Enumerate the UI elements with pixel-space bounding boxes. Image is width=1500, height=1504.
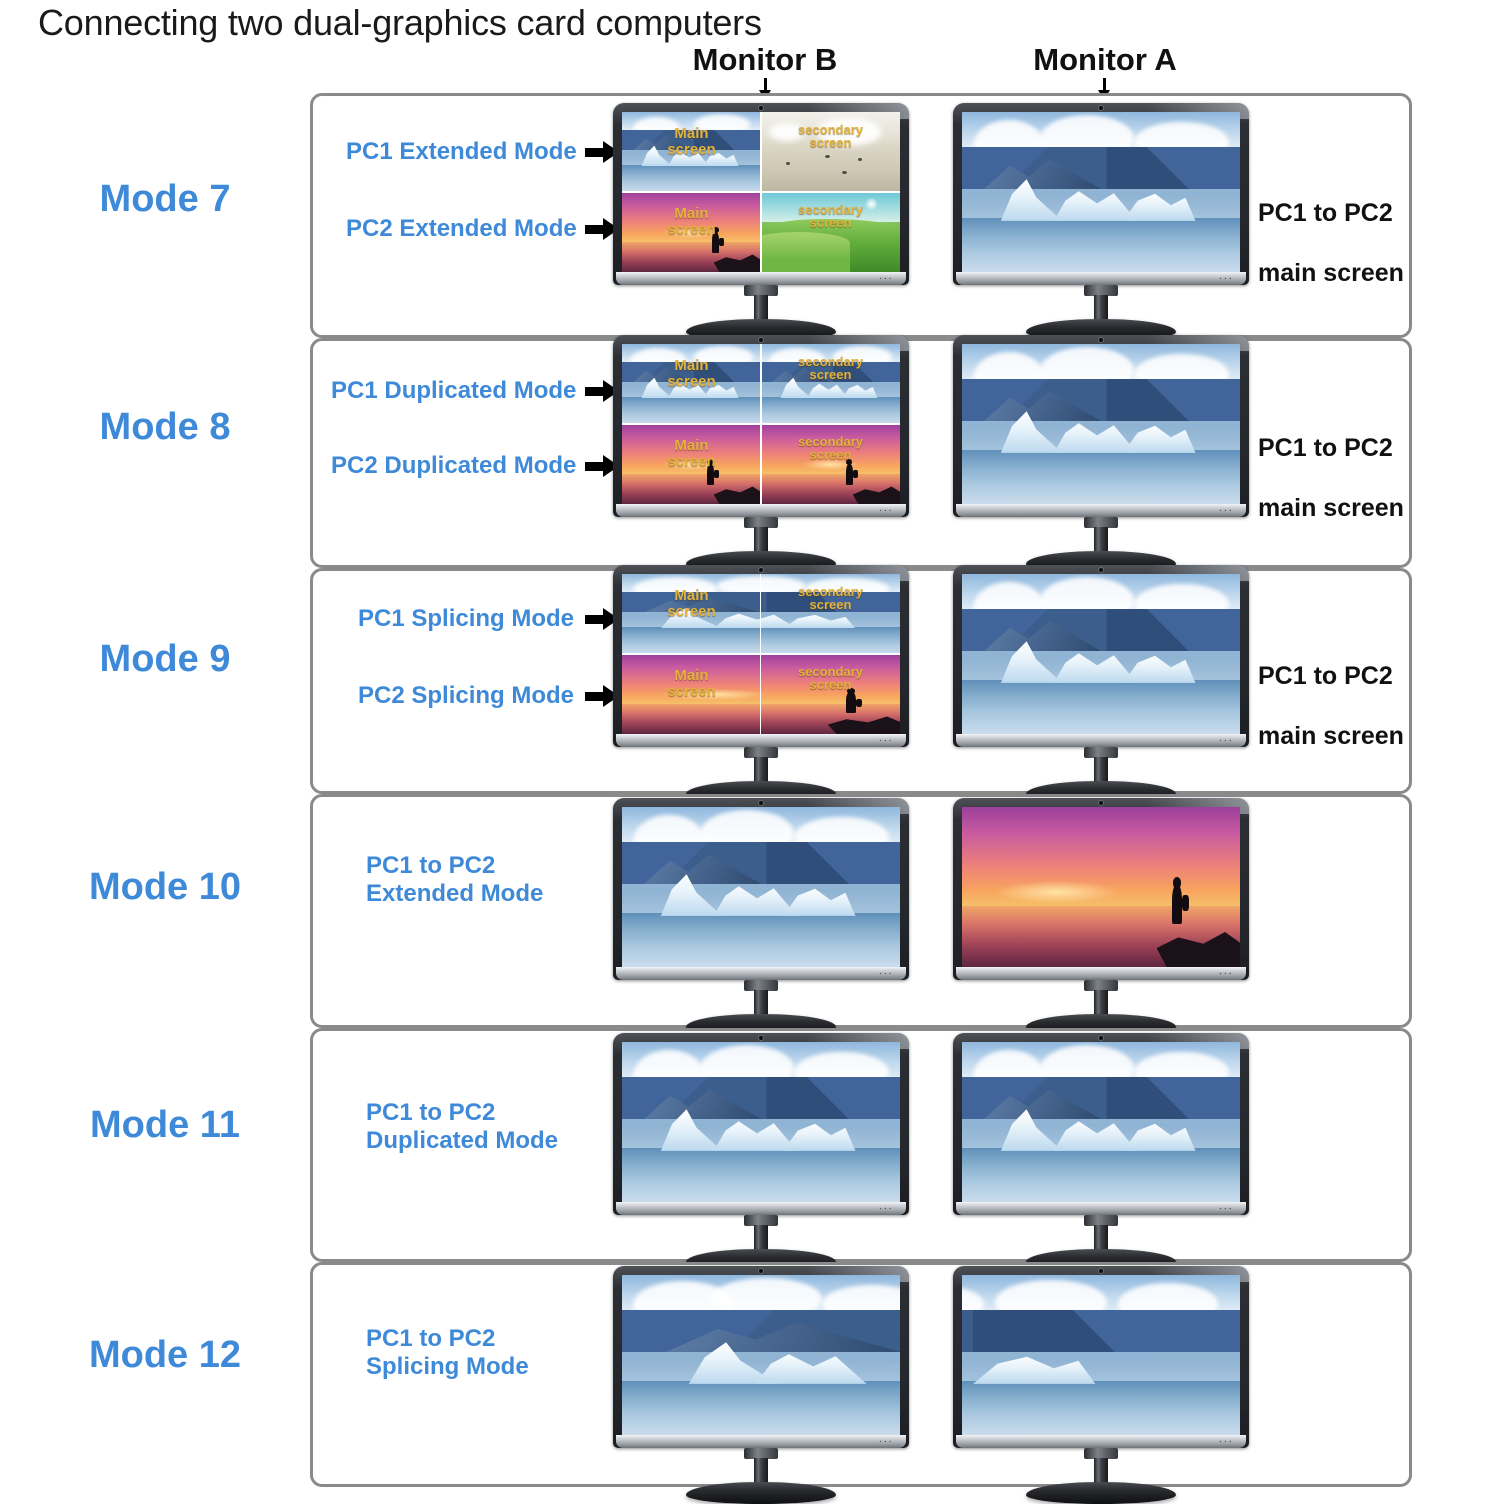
panorama-left-half (622, 1275, 900, 1435)
right-note-line-1: PC1 to PC2 (1258, 433, 1404, 463)
right-note-line-1: PC1 to PC2 (1258, 661, 1404, 691)
mode-12-monitor-a: ▪▪▪ (953, 1266, 1249, 1498)
pc1-extended-mode-label: PC1 Extended Mode (346, 138, 577, 166)
pc1-to-pc2-extended-mode-label: PC1 to PC2 Extended Mode (366, 852, 626, 909)
mode-10-monitor-b: ▪▪▪ (613, 798, 909, 1030)
spliced-bottom-half: Main screen secondary screen (622, 654, 900, 734)
monitor-b-header: Monitor B (660, 42, 870, 78)
mode-7-monitor-b: Main screen secondary screen (613, 103, 909, 335)
pc2-duplicated-mode-label: PC2 Duplicated Mode (331, 452, 576, 480)
right-note-line-2: main screen (1258, 493, 1404, 523)
pc1-duplicated-mode-label: PC1 Duplicated Mode (331, 377, 576, 405)
right-note-line-2: main screen (1258, 258, 1404, 288)
mode-11-monitor-a: ▪▪▪ (953, 1033, 1249, 1265)
mode-label-9: Mode 9 (40, 638, 290, 681)
page-title: Connecting two dual-graphics card comput… (38, 2, 762, 44)
quadrant-top-right: secondary screen (761, 112, 900, 192)
mode-11-monitor-b: ▪▪▪ (613, 1033, 909, 1265)
pc1-to-pc2-duplicated-mode-label: PC1 to PC2 Duplicated Mode (366, 1099, 626, 1156)
mode-9-monitor-a: ▪▪▪ (953, 565, 1249, 797)
mode-7-right-note: PC1 to PC2 main screen (1258, 168, 1404, 318)
quadrant-bottom-right: secondary screen (761, 424, 900, 504)
quadrant-top-right: secondary screen (761, 344, 900, 424)
mode-7-monitor-a: ▪▪▪ (953, 103, 1249, 335)
mode-9-right-note: PC1 to PC2 main screen (1258, 631, 1404, 781)
mode-label-7: Mode 7 (40, 178, 290, 221)
monitor-a-header: Monitor A (1000, 42, 1210, 78)
pc2-extended-mode-label: PC2 Extended Mode (346, 215, 577, 243)
quadrant-top-left: Main screen (622, 344, 761, 424)
quadrant-bottom-right: secondary screen (761, 192, 900, 272)
quadrant-bottom-left: Main screen (622, 192, 761, 272)
mode-12-monitor-b: ▪▪▪ (613, 1266, 909, 1498)
quadrant-bottom-left: Main screen (622, 424, 761, 504)
pc1-to-pc2-splicing-mode-label: PC1 to PC2 Splicing Mode (366, 1325, 626, 1382)
quadrant-top-left: Main screen (622, 112, 761, 192)
mode-9-monitor-b: Main screen secondary screen Main screen (613, 565, 909, 797)
mode-8-monitor-a: ▪▪▪ (953, 335, 1249, 567)
mode-label-10: Mode 10 (40, 866, 290, 909)
mode-label-8: Mode 8 (40, 406, 290, 449)
spliced-top-half: Main screen secondary screen (622, 574, 900, 654)
mode-label-12: Mode 12 (40, 1334, 290, 1377)
mode-label-11: Mode 11 (40, 1104, 290, 1147)
pc1-splicing-mode-label: PC1 Splicing Mode (358, 605, 574, 633)
mode-8-monitor-b: Main screen secondary screen (613, 335, 909, 567)
right-note-line-2: main screen (1258, 721, 1404, 751)
panorama-right-half (962, 1275, 1240, 1435)
right-note-line-1: PC1 to PC2 (1258, 198, 1404, 228)
mode-10-monitor-a: ▪▪▪ (953, 798, 1249, 1030)
mode-8-right-note: PC1 to PC2 main screen (1258, 403, 1404, 553)
pc2-splicing-mode-label: PC2 Splicing Mode (358, 682, 574, 710)
